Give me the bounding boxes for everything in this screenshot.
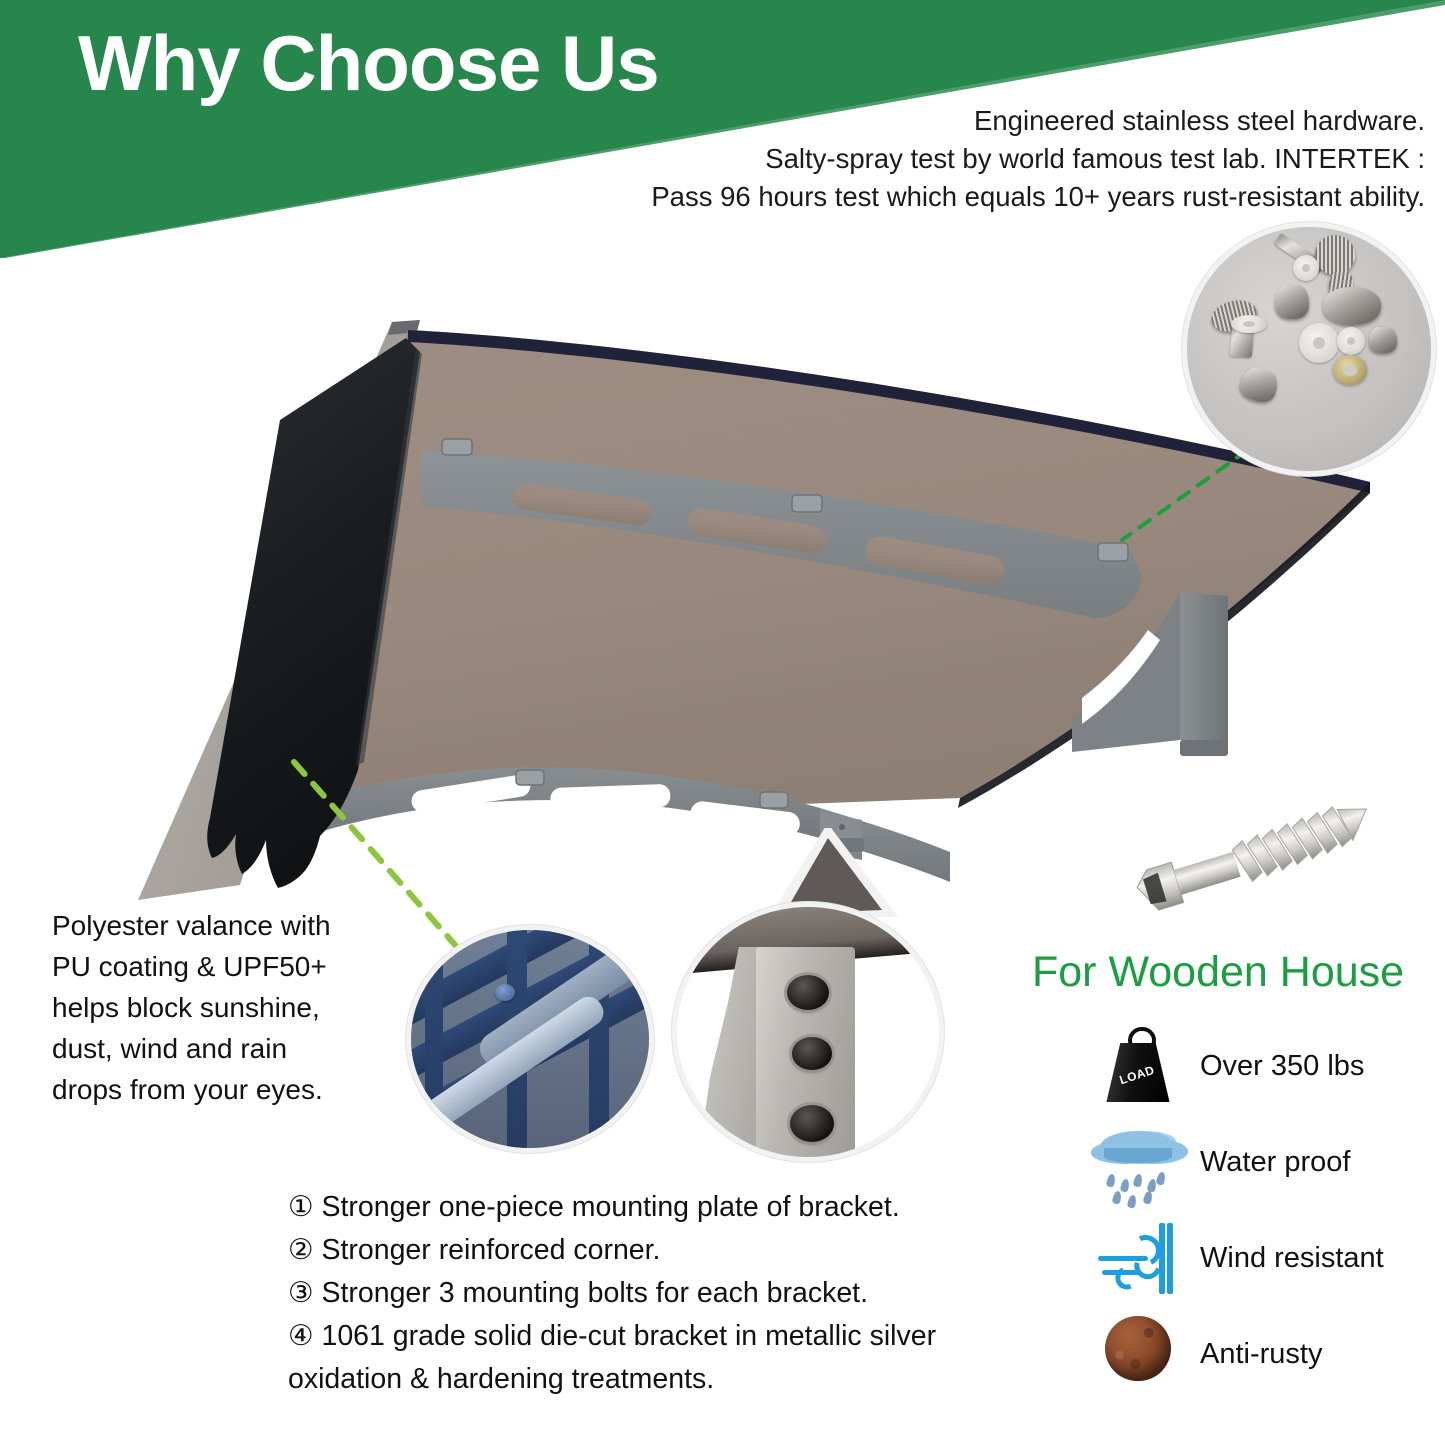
hardware-line-3: Pass 96 hours test which equals 10+ year… (565, 178, 1425, 216)
cap-nut-icon-3 (1369, 327, 1397, 353)
list-item-2: ② Stronger reinforced corner. (288, 1229, 968, 1272)
thumb-screw-head-icon (1323, 287, 1381, 325)
bracket-feature-list: ① Stronger one-piece mounting plate of b… (288, 1186, 968, 1401)
washer-icon-2 (1231, 315, 1267, 333)
feature-row-wind: Wind resistant (1090, 1210, 1440, 1306)
washer-icon (1293, 255, 1319, 281)
knurled-head-icon (1315, 235, 1355, 275)
feature-label-wind: Wind resistant (1200, 1242, 1384, 1275)
page-title: Why Choose Us (78, 22, 659, 105)
feature-label-load: Over 350 lbs (1200, 1050, 1364, 1083)
bracket-bolt-2-icon (792, 1037, 831, 1070)
feature-row-load: LOAD Over 350 lbs (1090, 1018, 1440, 1114)
weight-load-icon: LOAD (1090, 1018, 1186, 1114)
valance-caption-line-5: drops from your eyes. (52, 1069, 382, 1110)
wind-icon (1090, 1210, 1186, 1306)
list-item-1: ① Stronger one-piece mounting plate of b… (288, 1186, 968, 1229)
feature-row-antirust: Anti-rusty (1090, 1306, 1440, 1402)
cap-nut-icon (1275, 285, 1309, 319)
lag-screw-icon (1128, 800, 1380, 918)
wooden-house-feature-list: LOAD Over 350 lbs Water proof (1090, 1018, 1440, 1402)
hardware-line-1: Engineered stainless steel hardware. (565, 102, 1425, 140)
hardware-description: Engineered stainless steel hardware. Sal… (565, 102, 1425, 216)
feature-label-antirust: Anti-rusty (1200, 1338, 1322, 1371)
bracket-bolt-1-icon (787, 975, 829, 1010)
rust-ball-icon (1090, 1306, 1186, 1402)
valance-photo (406, 925, 654, 1153)
feature-label-waterproof: Water proof (1200, 1146, 1350, 1179)
list-item-3: ③ Stronger 3 mounting bolts for each bra… (288, 1272, 968, 1315)
bolt-in-photo (495, 984, 515, 1001)
feature-row-waterproof: Water proof (1090, 1114, 1440, 1210)
list-item-4: ④ 1061 grade solid die-cut bracket in me… (288, 1315, 968, 1401)
washer-icon-4 (1337, 327, 1365, 355)
valance-caption-line-1: Polyester valance with (52, 905, 382, 946)
hardware-photo (1182, 222, 1436, 476)
valance-caption: Polyester valance with PU coating & UPF5… (52, 905, 382, 1110)
bracket-bolt-3-icon (790, 1105, 835, 1143)
bracket-photo (672, 902, 944, 1162)
wooden-house-title: For Wooden House (1032, 948, 1404, 997)
infographic-page: Why Choose Us Engineered stainless steel… (0, 0, 1445, 1445)
rain-cloud-icon (1090, 1114, 1186, 1210)
valance-caption-line-3: helps block sunshine, (52, 987, 382, 1028)
brass-grommet-icon (1333, 355, 1367, 385)
valance-caption-line-2: PU coating & UPF50+ (52, 946, 382, 987)
hardware-line-2: Salty-spray test by world famous test la… (565, 140, 1425, 178)
washer-icon-3 (1299, 323, 1339, 363)
valance-caption-line-4: dust, wind and rain (52, 1028, 382, 1069)
